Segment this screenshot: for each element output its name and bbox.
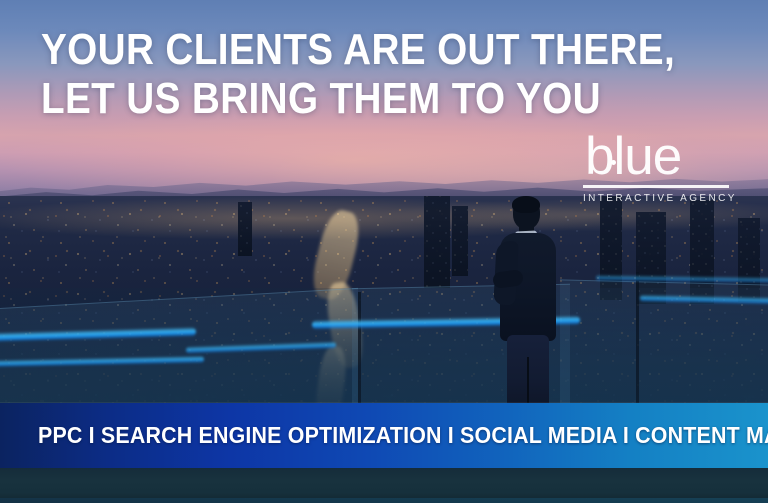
- page-title: YOUR CLIENTS ARE OUT THERE, LET US BRING…: [41, 25, 604, 123]
- promotional-banner: YOUR CLIENTS ARE OUT THERE, LET US BRING…: [0, 0, 768, 503]
- headline-line-2: LET US BRING THEM TO YOU: [41, 74, 604, 123]
- businessman-silhouette: [487, 197, 573, 412]
- man-hair: [512, 196, 540, 213]
- services-banner: PPC I SEARCH ENGINE OPTIMIZATION I SOCIA…: [0, 403, 768, 468]
- logo-tagline: INTERACTIVE AGENCY: [583, 193, 729, 204]
- logo-dot-icon: [611, 160, 616, 165]
- headline-line-1: YOUR CLIENTS ARE OUT THERE,: [41, 25, 604, 74]
- brand-logo[interactable]: blue INTERACTIVE AGENCY: [583, 130, 731, 204]
- logo-wordmark: blue: [583, 130, 731, 183]
- services-banner-text: PPC I SEARCH ENGINE OPTIMIZATION I SOCIA…: [38, 422, 768, 449]
- deck-floor-strip: [0, 468, 768, 503]
